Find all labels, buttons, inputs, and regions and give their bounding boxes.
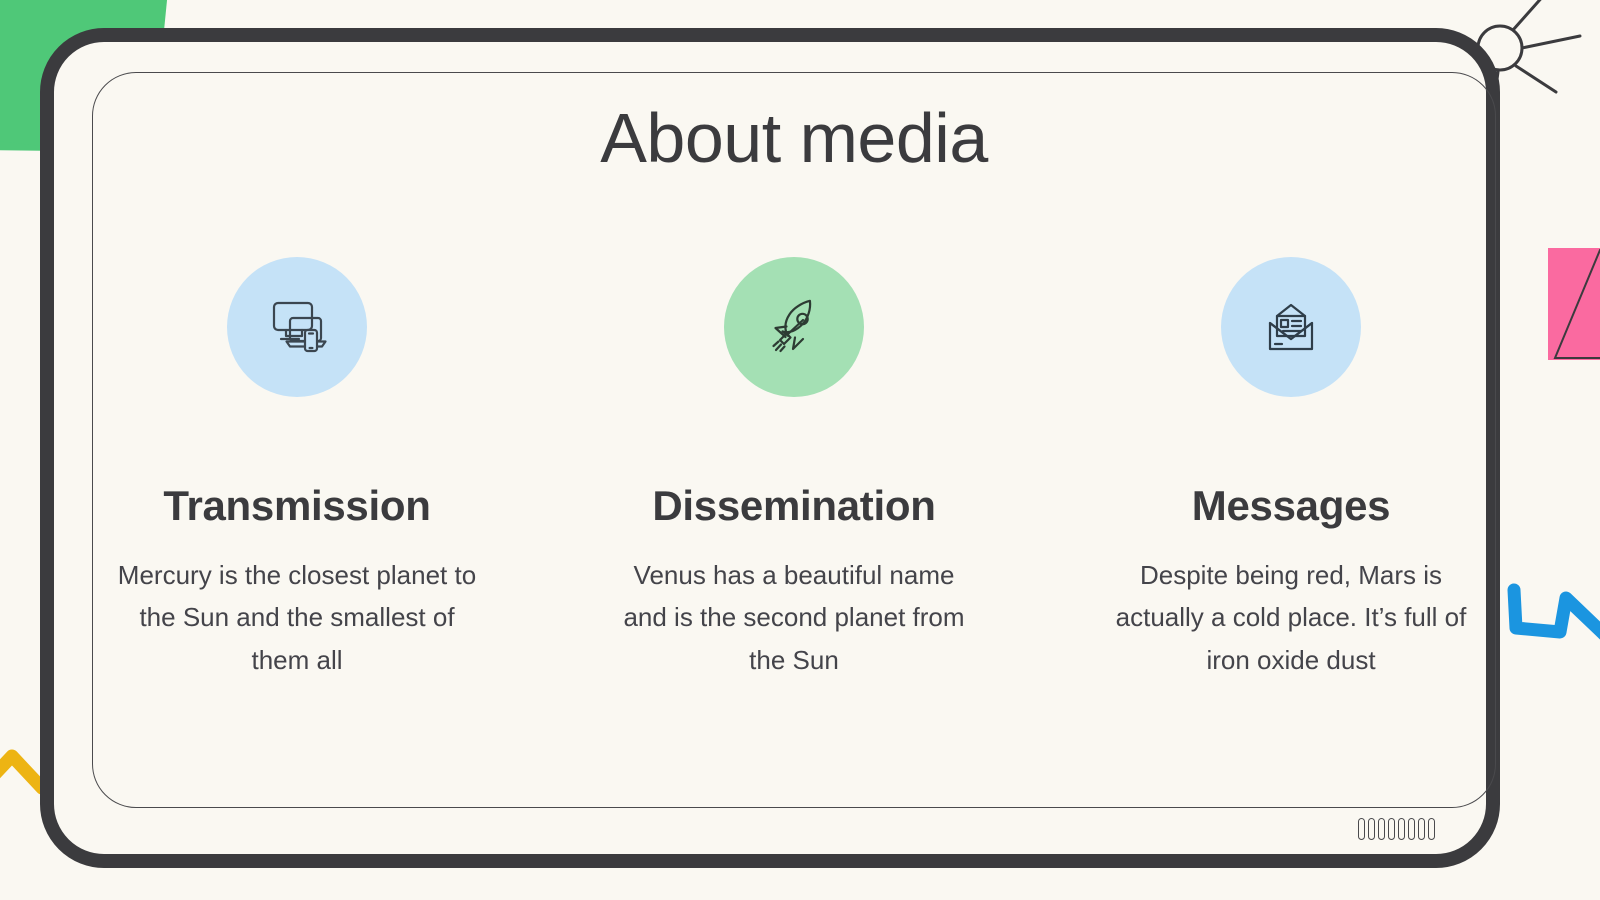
slide-content: About media Transmission [92, 72, 1496, 808]
open-envelope-icon [1255, 291, 1327, 363]
stripe-bar [1408, 818, 1415, 840]
feature-title: Transmission [163, 485, 430, 527]
slide-canvas: About media Transmission [0, 0, 1600, 900]
feature-body: Mercury is the closest planet to the Sun… [117, 554, 477, 681]
stripe-bar [1368, 818, 1375, 840]
stripe-bar [1358, 818, 1365, 840]
stripe-bar [1418, 818, 1425, 840]
feature-body: Despite being red, Mars is actually a co… [1111, 554, 1471, 681]
pink-triangle-decoration-body [1555, 250, 1600, 358]
feature-title: Dissemination [652, 485, 935, 527]
page-title: About media [92, 100, 1496, 177]
feature-columns: Transmission Mercury is the closest plan… [92, 257, 1496, 681]
feature-column-messages: Messages Despite being red, Mars is actu… [1086, 257, 1496, 681]
devices-icon-badge [227, 257, 367, 397]
pink-triangle-decoration-tip [1548, 248, 1600, 360]
stripe-bar [1428, 818, 1435, 840]
blue-zigzag-decoration [1514, 590, 1600, 640]
feature-column-dissemination: Dissemination Venus has a beautiful name… [589, 257, 999, 681]
rocket-icon [758, 291, 830, 363]
stripe-bar [1388, 818, 1395, 840]
feature-body: Venus has a beautiful name and is the se… [614, 554, 974, 681]
stripe-bar [1398, 818, 1405, 840]
devices-icon [261, 291, 333, 363]
feature-title: Messages [1192, 485, 1390, 527]
feature-column-transmission: Transmission Mercury is the closest plan… [92, 257, 502, 681]
stripes-decoration [1358, 818, 1435, 840]
stripe-bar [1378, 818, 1385, 840]
open-envelope-icon-badge [1221, 257, 1361, 397]
pink-triangle-decoration [1548, 248, 1600, 360]
rocket-icon-badge [724, 257, 864, 397]
